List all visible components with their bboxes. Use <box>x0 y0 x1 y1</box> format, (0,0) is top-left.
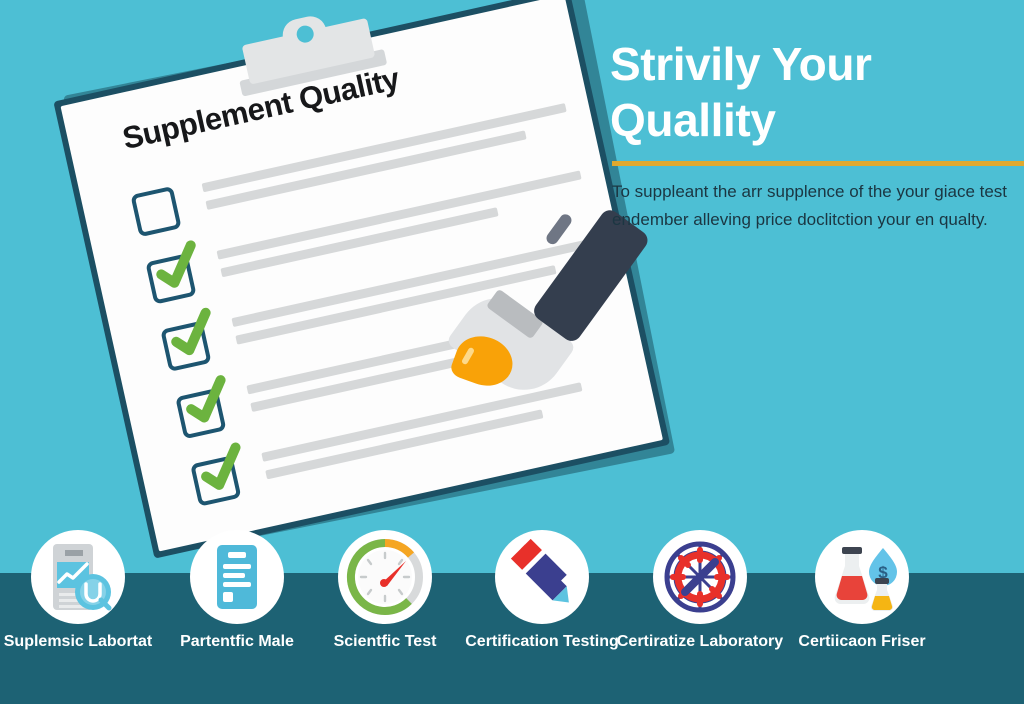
headline-line-2: Quallity <box>610 92 1010 148</box>
icon-badge-pencil[interactable] <box>495 530 589 624</box>
infographic-poster: Supplement Quality <box>0 0 1024 704</box>
icon-label: Scientfic Test <box>300 632 470 652</box>
checkmark-icon <box>162 307 222 367</box>
icon-badge-chart-report[interactable] <box>31 530 125 624</box>
checkmark-icon <box>191 441 251 501</box>
icon-label: Partentfic Male <box>152 632 322 652</box>
icon-badge-gauge[interactable] <box>338 530 432 624</box>
icon-label: Certiratize Laboratory <box>615 632 785 652</box>
page-title: Strivily Your Quallity <box>610 36 1010 148</box>
chart-report-magnifier-icon <box>31 530 125 624</box>
gauge-meter-icon <box>338 530 432 624</box>
checkmark-icon <box>147 239 207 299</box>
headline-line-1: Strivily Your <box>610 36 1010 92</box>
checkbox-unchecked[interactable] <box>130 186 181 237</box>
pencil-marker-icon <box>495 530 589 624</box>
title-divider <box>612 161 1024 166</box>
lab-flasks-droplet-icon: $ <box>815 530 909 624</box>
icon-badge-lab-flasks[interactable]: $ <box>815 530 909 624</box>
checkmark-icon <box>177 374 237 434</box>
icon-label: Certiicaon Friser <box>777 632 947 652</box>
icon-label: Suplemsic Labortat <box>0 632 163 652</box>
icon-badge-seal[interactable] <box>653 530 747 624</box>
icon-label: Certification Testing <box>457 632 627 652</box>
document-icon <box>190 530 284 624</box>
body-paragraph: To suppleant the arr supplence of the yo… <box>612 178 1010 233</box>
icon-badge-document[interactable] <box>190 530 284 624</box>
pen-highlight <box>544 212 574 247</box>
no-entry-seal-icon <box>653 530 747 624</box>
